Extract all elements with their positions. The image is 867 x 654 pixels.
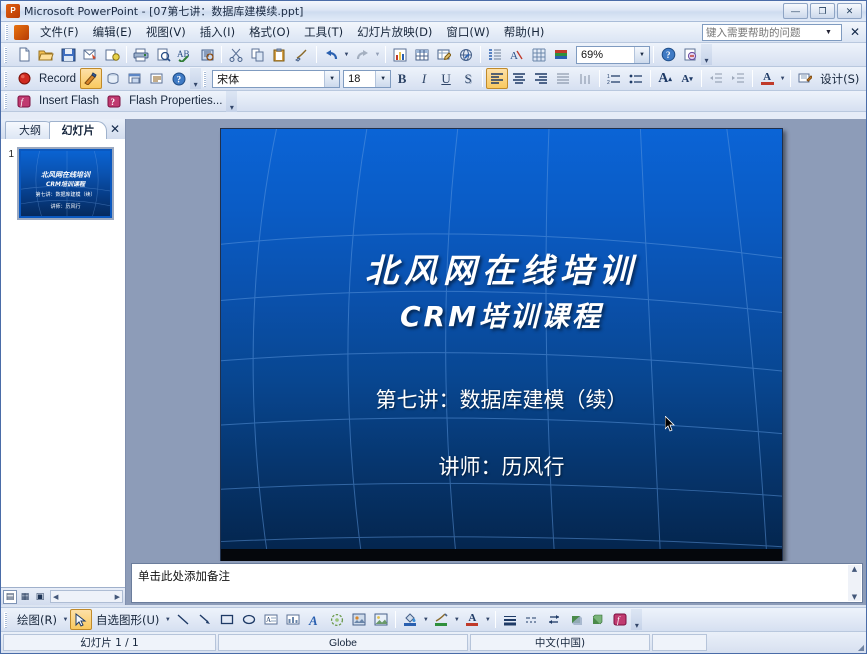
show-grid-icon[interactable]: [528, 44, 550, 65]
standard-toolbar: AB ▼ ▼: [1, 43, 866, 67]
redo-dropdown-arrow-icon[interactable]: ▼: [373, 44, 382, 65]
record-icon[interactable]: [13, 68, 35, 89]
notes-scrollbar[interactable]: ▲ ▼: [848, 565, 861, 601]
slide-number: 1: [5, 147, 14, 160]
globe-background-icon: [221, 129, 782, 563]
design-icon[interactable]: [794, 68, 816, 89]
slide-thumbnail-1[interactable]: 北风网在线培训 CRM培训课程 第七讲：数据库建模（续） 讲师：历风行: [17, 147, 114, 220]
undo-icon[interactable]: [320, 44, 342, 65]
camtasia-options-icon[interactable]: [146, 68, 168, 89]
view-buttons-bar: ▤ ▦ ▣ ◀ ▶: [1, 587, 125, 605]
format-painter-icon[interactable]: [291, 44, 313, 65]
ask-a-question-input[interactable]: [703, 25, 821, 40]
powerpoint-icon: P: [6, 4, 20, 18]
scroll-down-icon[interactable]: ▼: [852, 593, 857, 601]
insert-diagram-icon[interactable]: [282, 609, 304, 630]
svg-text:2: 2: [607, 80, 610, 85]
bold-button[interactable]: B: [391, 68, 413, 89]
record-label[interactable]: Record: [35, 73, 80, 85]
slide-sorter-view-button[interactable]: ▦: [18, 590, 32, 604]
thumbnail-subtitle-line1: 第七讲：数据库建模（续）: [21, 191, 110, 198]
line-color-dropdown-arrow-icon[interactable]: ▼: [452, 609, 461, 630]
thumbnail-subtitle-line2: 讲师：历风行: [21, 203, 110, 210]
workspace: 大纲 幻灯片 ✕ 1: [1, 119, 866, 605]
toolbar-separator: [482, 70, 483, 87]
menu-item-help[interactable]: 帮助(H): [497, 22, 552, 42]
camtasia-edit-icon[interactable]: [80, 68, 102, 89]
window-controls: — ❐ ✕: [783, 3, 862, 19]
svg-text:A: A: [308, 613, 318, 627]
slide-subtitle-line1[interactable]: 第七讲：数据库建模（续）: [221, 384, 782, 414]
line-style-icon[interactable]: [499, 609, 521, 630]
tab-outline[interactable]: 大纲: [5, 121, 55, 139]
slide-title-line1[interactable]: 北风网在线培训: [221, 244, 782, 292]
toolbar-separator: [790, 70, 791, 87]
svg-text:?: ?: [666, 50, 671, 60]
font-color-icon[interactable]: A: [756, 68, 778, 89]
save-icon[interactable]: [57, 44, 79, 65]
svg-text:A: A: [266, 616, 271, 624]
window-title: Microsoft PowerPoint - [07第七讲：数据库建模续.ppt…: [24, 3, 303, 19]
standard-toolbar-grip[interactable]: [4, 47, 11, 63]
fill-color-dropdown-arrow-icon[interactable]: ▼: [421, 609, 430, 630]
insert-flash-label[interactable]: Insert Flash: [35, 95, 103, 107]
notes-placeholder[interactable]: 单击此处添加备注 ▲ ▼: [131, 563, 863, 603]
drawing-toolbar-grip[interactable]: [4, 612, 11, 628]
slide-canvas[interactable]: 北风网在线培训 CRM培训课程 第七讲：数据库建模（续） 讲师：历风行: [220, 128, 783, 564]
draw-menu-button[interactable]: 绘图(R): [13, 612, 61, 628]
menu-item-file[interactable]: 文件(F): [33, 22, 86, 42]
camtasia-effects-icon[interactable]: [102, 68, 124, 89]
flash-icon[interactable]: f: [609, 609, 631, 630]
close-document-icon[interactable]: ✕: [850, 25, 860, 39]
justify-icon[interactable]: [552, 68, 574, 89]
chevron-down-icon[interactable]: ▼: [634, 47, 649, 63]
status-bar: 幻灯片 1 / 1 Globe 中文(中国) ◢: [1, 631, 866, 653]
menu-item-tools[interactable]: 工具(T): [297, 22, 350, 42]
slide-counter: 幻灯片 1 / 1: [3, 634, 216, 651]
text-shadow-button[interactable]: S: [457, 68, 479, 89]
draw-dropdown-arrow-icon[interactable]: ▼: [61, 609, 70, 630]
tables-and-borders-icon[interactable]: [433, 44, 455, 65]
toolbar-separator: [653, 46, 654, 63]
cut-icon[interactable]: [225, 44, 247, 65]
oval-icon[interactable]: [238, 609, 260, 630]
increase-font-size-button[interactable]: A▴: [654, 68, 676, 89]
decrease-indent-icon[interactable]: [705, 68, 727, 89]
pane-tab-strip: 大纲 幻灯片 ✕: [1, 119, 125, 139]
toolbar-separator: [599, 70, 600, 87]
slide-subtitle-line2[interactable]: 讲师：历风行: [221, 451, 782, 481]
line-icon[interactable]: [172, 609, 194, 630]
slides-outline-pane: 大纲 幻灯片 ✕ 1: [1, 119, 126, 605]
svg-text:?: ?: [111, 97, 116, 107]
fill-color-icon[interactable]: [399, 609, 421, 630]
3d-style-icon[interactable]: [587, 609, 609, 630]
toolbar-separator: [395, 611, 396, 628]
font-size-value[interactable]: 18: [344, 73, 375, 85]
flash-toolbar-options-button[interactable]: ▾: [226, 91, 237, 112]
zoom-combo[interactable]: 69% ▼: [576, 46, 650, 64]
minimize-button[interactable]: —: [783, 3, 808, 19]
paste-icon[interactable]: [269, 44, 291, 65]
office-assistant-icon[interactable]: [679, 44, 701, 65]
toolbar-options-button[interactable]: ▾: [701, 44, 712, 65]
slide-thumbnail-list: 1 北风网在线培训 CRM培训课程 第七讲：数据库建模（续）: [1, 139, 125, 587]
insert-table-icon[interactable]: [411, 44, 433, 65]
expand-all-icon[interactable]: [484, 44, 506, 65]
menu-bar: 文件(F) 编辑(E) 视图(V) 插入(I) 格式(O) 工具(T) 幻灯片放…: [1, 22, 866, 43]
bullets-icon[interactable]: [625, 68, 647, 89]
toolbar-separator: [221, 46, 222, 63]
pane-horizontal-scrollbar[interactable]: ◀ ▶: [50, 590, 123, 603]
rectangle-icon[interactable]: [216, 609, 238, 630]
slide-show-button[interactable]: ▣: [33, 590, 47, 604]
numbering-icon[interactable]: 12: [603, 68, 625, 89]
font-color-dropdown-arrow-icon[interactable]: ▼: [778, 68, 787, 89]
spelling-check-icon[interactable]: AB: [174, 44, 196, 65]
insert-clipart-icon[interactable]: [348, 609, 370, 630]
insert-chart-icon[interactable]: [389, 44, 411, 65]
insert-org-chart-icon[interactable]: [326, 609, 348, 630]
close-pane-icon[interactable]: ✕: [110, 122, 120, 136]
slide-editing-stage: 北风网在线培训 CRM培训课程 第七讲：数据库建模（续） 讲师：历风行: [126, 119, 866, 605]
menu-item-edit[interactable]: 编辑(E): [86, 22, 139, 42]
copy-icon[interactable]: [247, 44, 269, 65]
toolbar-separator: [316, 46, 317, 63]
autoshapes-menu-button[interactable]: 自选图形(U): [92, 612, 163, 628]
arrow-style-icon[interactable]: [543, 609, 565, 630]
powerpoint-window: P Microsoft PowerPoint - [07第七讲：数据库建模续.p…: [0, 0, 867, 654]
svg-text:?: ?: [177, 74, 182, 84]
drawing-toolbar-options-button[interactable]: ▾: [631, 609, 642, 630]
font-name-combo[interactable]: 宋体 ▼: [212, 70, 340, 88]
font-color-dropdown-arrow-icon[interactable]: ▼: [483, 609, 492, 630]
autoshapes-dropdown-arrow-icon[interactable]: ▼: [163, 609, 172, 630]
camtasia-help-icon[interactable]: ?: [168, 68, 190, 89]
show-formatting-icon[interactable]: A: [506, 44, 528, 65]
text-box-icon[interactable]: A: [260, 609, 282, 630]
align-right-icon[interactable]: [530, 68, 552, 89]
spell-status-cell[interactable]: [652, 634, 707, 651]
thumbnail-canvas: 北风网在线培训 CRM培训课程 第七讲：数据库建模（续） 讲师：历风行: [21, 151, 110, 216]
scroll-left-icon[interactable]: ◀: [51, 593, 60, 601]
toolbar-separator: [126, 46, 127, 63]
toolbar-separator: [752, 70, 753, 87]
insert-flash-icon[interactable]: f: [13, 91, 35, 112]
select-arrow-icon[interactable]: [70, 609, 92, 630]
flash-toolbar: f Insert Flash ? Flash Properties... ▾: [1, 91, 866, 112]
record-and-formatting-toolbar: Record ? ▾ 宋体 ▼ 18 ▼ B I U S: [1, 67, 866, 91]
undo-dropdown-arrow-icon[interactable]: ▼: [342, 44, 351, 65]
color-scheme-icon[interactable]: [550, 44, 572, 65]
font-name-value[interactable]: 宋体: [213, 71, 324, 87]
scroll-up-icon[interactable]: ▲: [852, 565, 857, 573]
menu-item-view[interactable]: 视图(V): [139, 22, 193, 42]
record-toolbar-grip[interactable]: [4, 71, 11, 87]
toolbar-separator: [701, 70, 702, 87]
menu-item-window[interactable]: 窗口(W): [439, 22, 496, 42]
toolbar-separator: [650, 70, 651, 87]
chevron-down-icon[interactable]: ▼: [324, 71, 339, 87]
underline-button[interactable]: U: [435, 68, 457, 89]
italic-button[interactable]: I: [413, 68, 435, 89]
permission-icon[interactable]: [101, 44, 123, 65]
new-slide-icon[interactable]: [863, 68, 867, 89]
design-button-label[interactable]: 设计(S): [816, 71, 863, 87]
text-direction-icon[interactable]: [574, 68, 596, 89]
tab-slides[interactable]: 幻灯片: [49, 121, 107, 139]
chevron-down-icon[interactable]: ▼: [375, 71, 390, 87]
flash-toolbar-grip[interactable]: [4, 93, 11, 109]
record-toolbar-options-button[interactable]: ▾: [190, 68, 201, 89]
research-icon[interactable]: [196, 44, 218, 65]
toolbar-separator: [480, 46, 481, 63]
dash-style-icon[interactable]: [521, 609, 543, 630]
shadow-style-icon[interactable]: [565, 609, 587, 630]
notes-pane: 单击此处添加备注 ▲ ▼: [126, 561, 866, 605]
thumbnail-title-line2: CRM培训课程: [21, 179, 110, 188]
new-file-icon[interactable]: [13, 44, 35, 65]
drawing-toolbar: 绘图(R) ▼ 自选图形(U) ▼ A A: [1, 607, 866, 631]
scroll-right-icon[interactable]: ▶: [113, 593, 122, 601]
slide-title-line2[interactable]: CRM培训课程: [221, 295, 782, 335]
arrow-icon[interactable]: [194, 609, 216, 630]
decrease-font-size-button[interactable]: A▾: [676, 68, 698, 89]
flash-properties-icon[interactable]: ?: [103, 91, 125, 112]
help-question-icon[interactable]: ?: [657, 44, 679, 65]
restore-button[interactable]: ❐: [810, 3, 835, 19]
insert-wordart-icon[interactable]: A: [304, 609, 326, 630]
zoom-value[interactable]: 69%: [577, 49, 634, 61]
thumbnail-row[interactable]: 1 北风网在线培训 CRM培训课程 第七讲：数据库建模（续）: [5, 147, 121, 220]
align-center-icon[interactable]: [508, 68, 530, 89]
title-bar: P Microsoft PowerPoint - [07第七讲：数据库建模续.p…: [1, 1, 866, 22]
chevron-down-icon[interactable]: ▼: [821, 25, 836, 40]
formatting-toolbar-grip[interactable]: [203, 71, 210, 87]
line-color-icon[interactable]: [430, 609, 452, 630]
font-size-combo[interactable]: 18 ▼: [343, 70, 391, 88]
menu-item-slideshow[interactable]: 幻灯片放映(D): [350, 22, 439, 42]
normal-view-button[interactable]: ▤: [3, 590, 17, 604]
menu-item-insert[interactable]: 插入(I): [193, 22, 242, 42]
redo-icon[interactable]: [351, 44, 373, 65]
resize-grip-icon[interactable]: ◢: [858, 643, 864, 652]
insert-hyperlink-icon[interactable]: [455, 44, 477, 65]
toolbar-separator: [495, 611, 496, 628]
print-icon[interactable]: [130, 44, 152, 65]
increase-indent-icon[interactable]: [727, 68, 749, 89]
ask-a-question-box[interactable]: ▼: [702, 24, 842, 41]
mouse-cursor-icon: [665, 416, 676, 432]
camtasia-window-icon[interactable]: [124, 68, 146, 89]
document-icon: [14, 25, 29, 40]
mail-recipient-icon[interactable]: [79, 44, 101, 65]
menu-grip[interactable]: [5, 24, 12, 40]
design-template-name[interactable]: Globe: [218, 634, 468, 651]
open-folder-icon[interactable]: [35, 44, 57, 65]
flash-properties-label[interactable]: Flash Properties...: [125, 95, 226, 107]
align-left-icon[interactable]: [486, 68, 508, 89]
font-color-icon[interactable]: A: [461, 609, 483, 630]
close-button[interactable]: ✕: [837, 3, 862, 19]
toolbar-separator: [385, 46, 386, 63]
insert-picture-icon[interactable]: [370, 609, 392, 630]
print-preview-icon[interactable]: [152, 44, 174, 65]
language-indicator[interactable]: 中文(中国): [470, 634, 650, 651]
menu-item-format[interactable]: 格式(O): [242, 22, 297, 42]
